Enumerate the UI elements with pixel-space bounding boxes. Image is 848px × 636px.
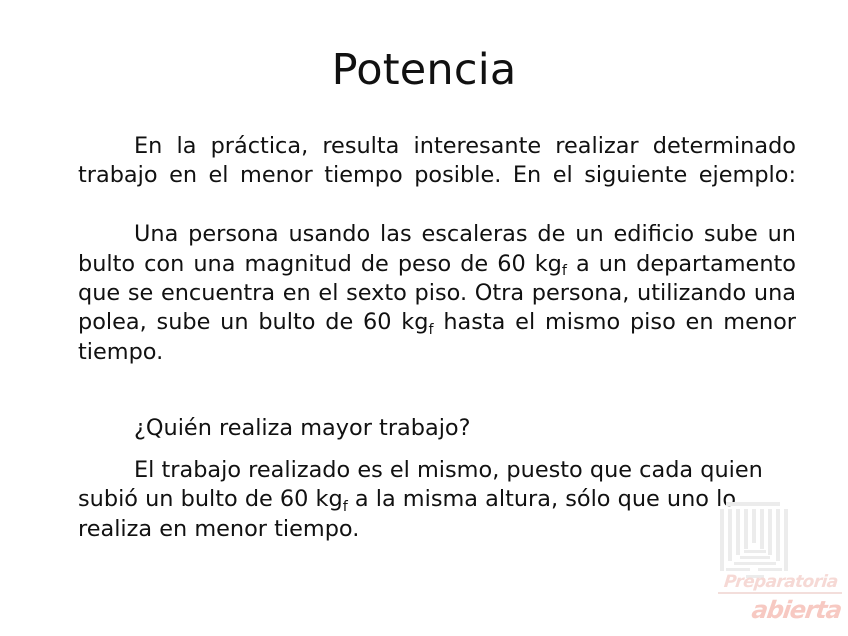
paragraph-question-text: ¿Quién realiza mayor trabajo?	[134, 415, 471, 441]
paragraph-question: ¿Quién realiza mayor trabajo?	[78, 414, 796, 443]
logo-word-abierta: abierta	[750, 596, 843, 624]
paragraph-answer: El trabajo realizado es el mismo, puesto…	[78, 456, 796, 544]
preparatoria-abierta-logo: Preparatoria abierta	[712, 500, 844, 630]
paragraph-intro: En la práctica, resulta interesante real…	[78, 132, 796, 220]
slide-canvas: Potencia En la práctica, resulta interes…	[0, 0, 848, 636]
kgf-subscript-3: f	[343, 499, 348, 515]
logo-divider	[718, 592, 842, 594]
slide-body: En la práctica, resulta interesante real…	[78, 132, 796, 544]
logo-word-preparatoria: Preparatoria	[723, 572, 839, 592]
page-title: Potencia	[0, 46, 848, 94]
book-icon	[718, 502, 792, 580]
paragraph-intro-text: En la práctica, resulta interesante real…	[78, 133, 796, 188]
kgf-subscript-1: f	[562, 263, 567, 279]
paragraph-example: Una persona usando las escaleras de un e…	[78, 220, 796, 396]
kgf-subscript-2: f	[428, 322, 433, 338]
logo-wordmark: Preparatoria abierta	[724, 572, 844, 628]
